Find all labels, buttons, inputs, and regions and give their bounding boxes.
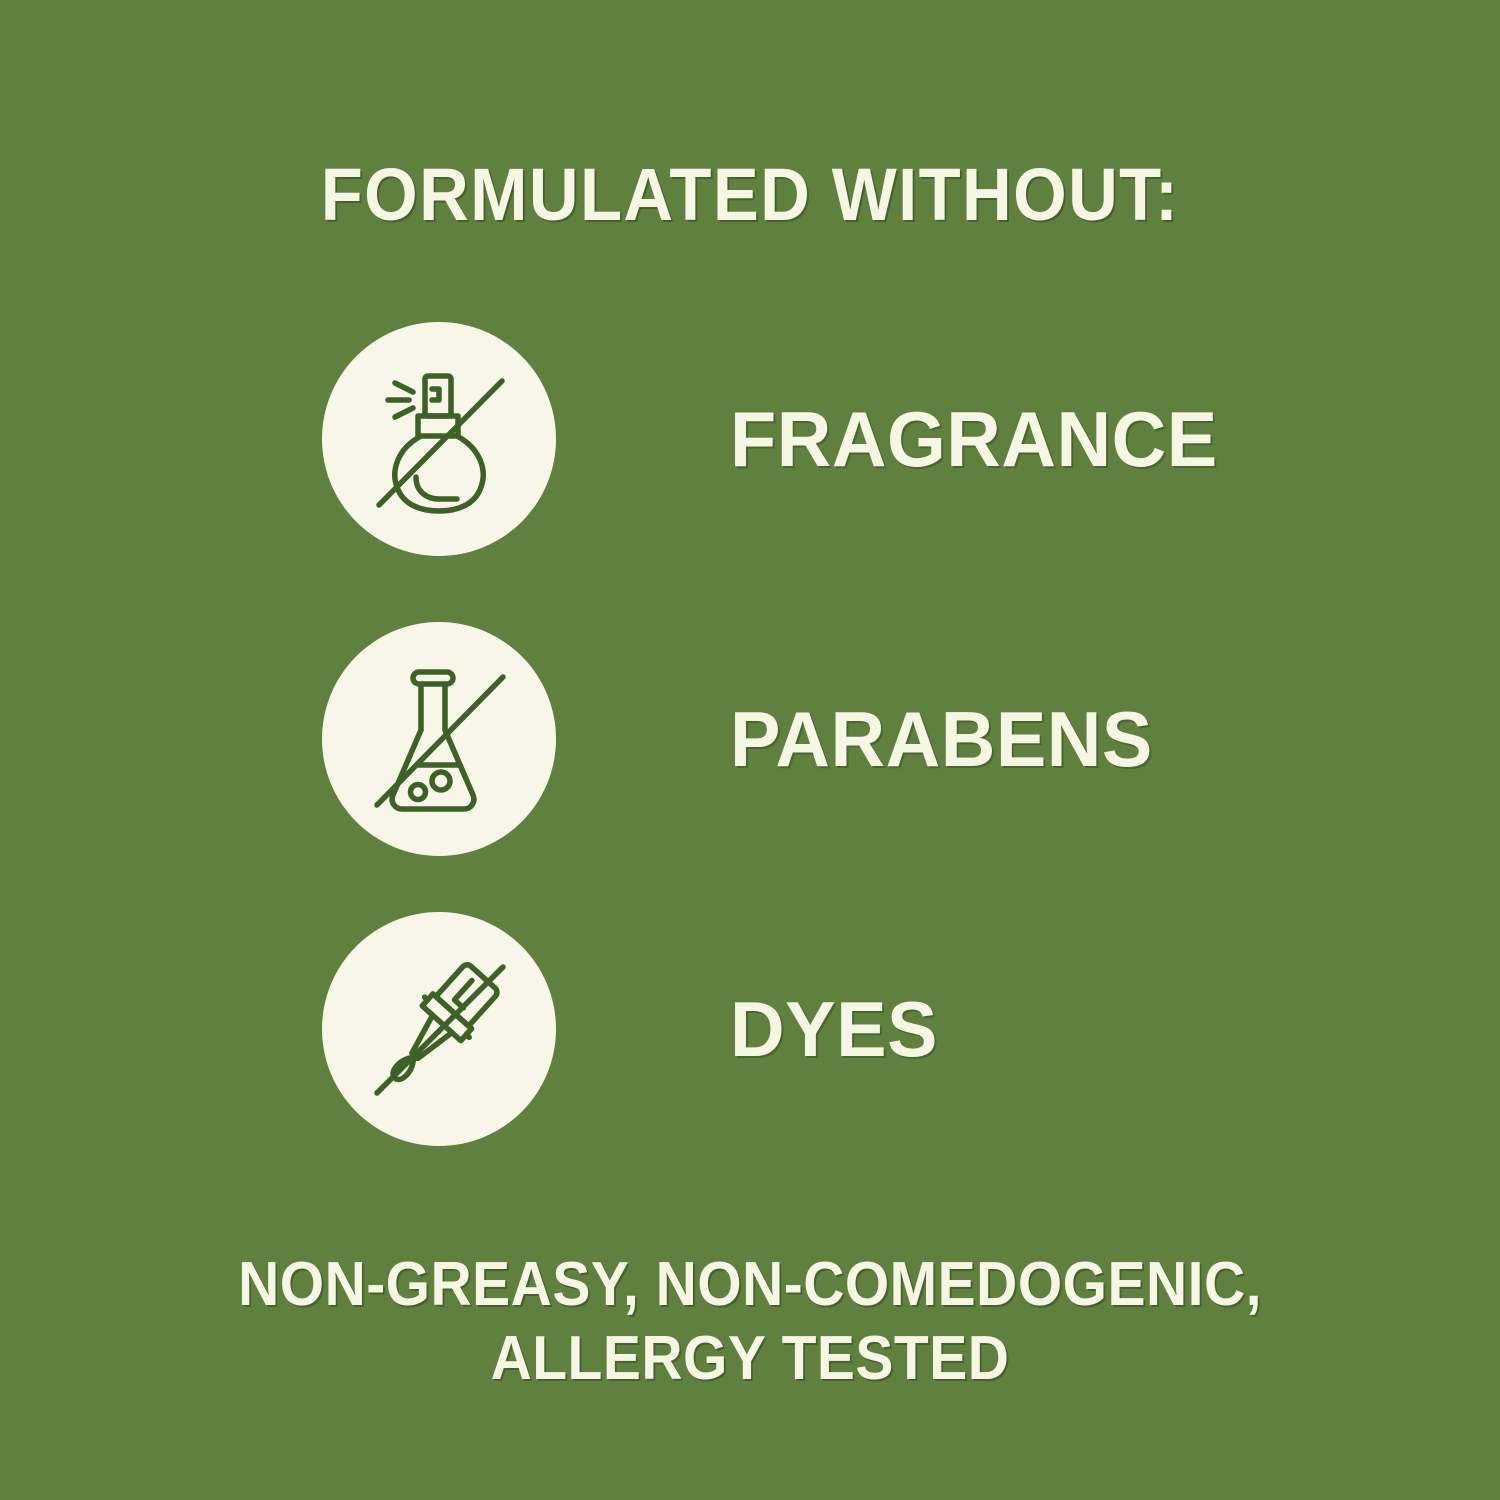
footer-claims: NON-GREASY, NON-COMEDOGENIC, ALLERGY TES… — [60, 1248, 1440, 1396]
no-fragrance-bottle-icon — [359, 359, 519, 519]
no-dropper-icon — [359, 949, 519, 1109]
footer-line-2: ALLERGY TESTED — [60, 1322, 1440, 1396]
claim-row-dyes: DYES — [322, 912, 1322, 1146]
claim-label-parabens: PARABENS — [730, 697, 1153, 781]
claim-row-fragrance: FRAGRANCE — [322, 322, 1322, 556]
formulated-without-card: FORMULATED WITHOUT: — [0, 0, 1500, 1500]
footer-line-1: NON-GREASY, NON-COMEDOGENIC, — [60, 1248, 1440, 1322]
no-parabens-badge — [322, 622, 556, 856]
no-dyes-badge — [322, 912, 556, 1146]
claim-label-dyes: DYES — [730, 987, 938, 1071]
page-title: FORMULATED WITHOUT: — [53, 155, 1448, 235]
no-chemical-flask-icon — [359, 659, 519, 819]
no-fragrance-badge — [322, 322, 556, 556]
claim-row-parabens: PARABENS — [322, 622, 1322, 856]
claim-label-fragrance: FRAGRANCE — [730, 397, 1218, 481]
